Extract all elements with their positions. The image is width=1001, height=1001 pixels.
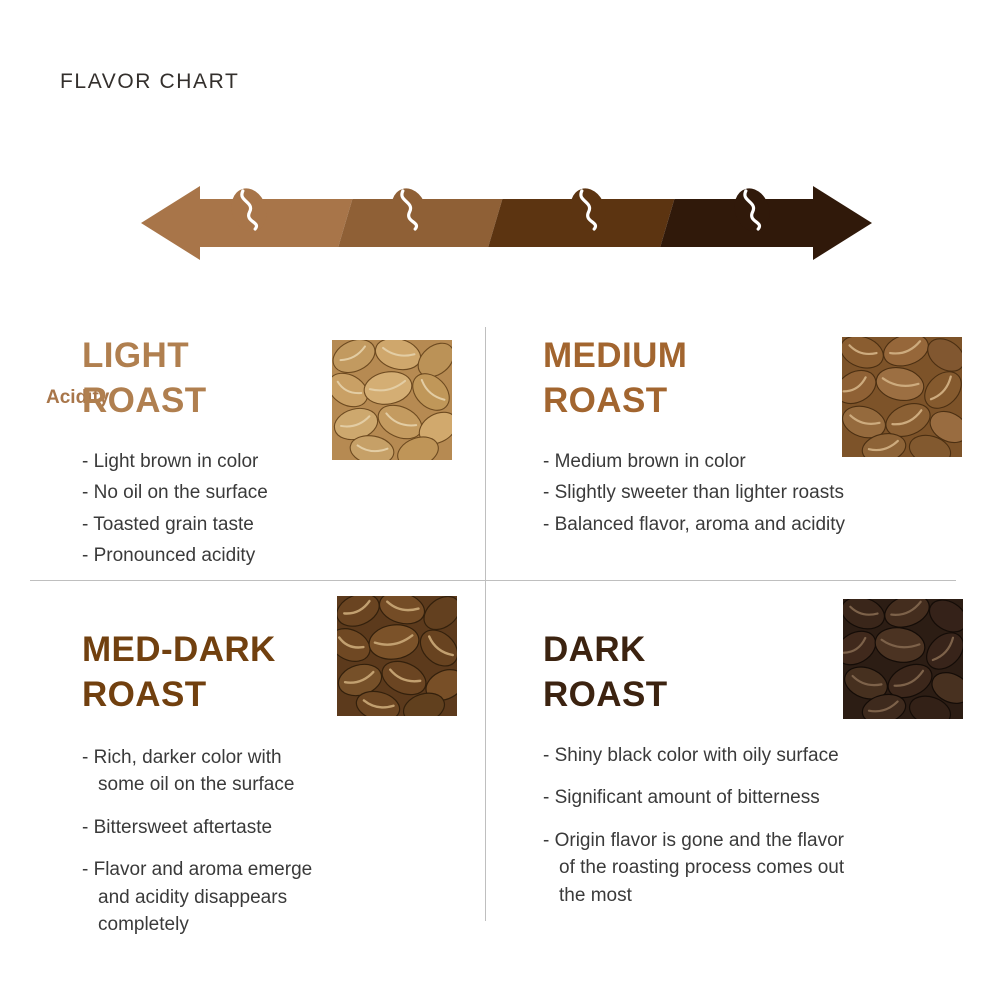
list-item: - Slightly sweeter than lighter roasts	[543, 479, 943, 507]
bullet-text: No oil on the surface	[94, 482, 268, 503]
light-roast-title: LIGHT ROAST	[82, 334, 472, 424]
list-item: - Toasted grain taste	[82, 511, 472, 539]
list-item: - Shiny black color with oily surface	[543, 742, 943, 770]
list-item: - Flavor and aroma emerge and acidity di…	[82, 856, 472, 939]
horizontal-divider	[30, 580, 956, 581]
dark-roast-title-line1: DARK	[543, 628, 943, 673]
bullet-marker: -	[82, 545, 88, 566]
list-item: - Significant amount of bitterness	[543, 784, 943, 812]
light-roast-title-line2: ROAST	[82, 379, 472, 424]
list-item: - Light brown in color	[82, 448, 472, 476]
med-dark-roast-title-line1: MED-DARK	[82, 628, 472, 673]
list-item: - Rich, darker color with some oil on th…	[82, 744, 472, 799]
medium-roast-title-line2: ROAST	[543, 379, 943, 424]
bullet-text: Toasted grain taste	[93, 514, 254, 535]
bullet-text: Light brown in color	[94, 451, 259, 472]
list-item: - No oil on the surface	[82, 479, 472, 507]
bullet-marker: -	[82, 514, 88, 535]
roast-scale: Acidity Bitterness LIGHT MEDIUM MED-DARK…	[0, 180, 1001, 275]
bullet-text: Balanced flavor, aroma and acidity	[555, 514, 845, 535]
roast-scale-arrow	[0, 180, 1001, 275]
bullet-text: Medium brown in color	[555, 451, 746, 472]
list-item: - Pronounced acidity	[82, 542, 472, 570]
bullet-marker: -	[82, 747, 88, 768]
light-roast-title-line1: LIGHT	[82, 334, 472, 379]
dark-roast-title: DARK ROAST	[543, 628, 943, 718]
list-item: - Bittersweet aftertaste	[82, 814, 472, 842]
bullet-marker: -	[82, 451, 88, 472]
vertical-divider	[485, 327, 486, 921]
bullet-marker: -	[543, 514, 549, 535]
med-dark-roast-bullet-list: - Rich, darker color with some oil on th…	[82, 744, 472, 939]
bullet-text: Bittersweet aftertaste	[94, 817, 272, 838]
bullet-marker: -	[543, 482, 549, 503]
bullet-marker: -	[82, 482, 88, 503]
bullet-marker: -	[82, 859, 88, 880]
bullet-marker: -	[543, 745, 549, 766]
page-title: FLAVOR CHART	[60, 70, 239, 94]
medium-roast-title-line1: MEDIUM	[543, 334, 943, 379]
list-item: - Origin flavor is gone and the flavor o…	[543, 827, 943, 910]
bullet-text: Rich, darker color with some oil on the …	[94, 747, 295, 796]
bullet-text: Significant amount of bitterness	[555, 787, 820, 808]
bullet-marker: -	[543, 787, 549, 808]
medium-roast-title: MEDIUM ROAST	[543, 334, 943, 424]
dark-roast-title-line2: ROAST	[543, 673, 943, 718]
med-dark-roast-title: MED-DARK ROAST	[82, 628, 472, 718]
quadrant-light-roast: LIGHT ROAST - Light brown in color - No …	[82, 334, 472, 574]
list-item: - Medium brown in color	[543, 448, 943, 476]
medium-roast-bullet-list: - Medium brown in color - Slightly sweet…	[543, 448, 943, 539]
bullet-text: Origin flavor is gone and the flavor of …	[555, 830, 845, 906]
quadrant-dark-roast: DARK ROAST - Shiny black color with oily…	[543, 628, 943, 924]
list-item: - Balanced flavor, aroma and acidity	[543, 511, 943, 539]
dark-roast-bullet-list: - Shiny black color with oily surface - …	[543, 742, 943, 910]
light-roast-bullet-list: - Light brown in color - No oil on the s…	[82, 448, 472, 570]
bullet-marker: -	[543, 830, 549, 851]
bullet-text: Flavor and aroma emerge and acidity disa…	[94, 859, 313, 935]
bullet-marker: -	[543, 451, 549, 472]
bullet-marker: -	[82, 817, 88, 838]
bullet-text: Pronounced acidity	[94, 545, 256, 566]
scale-band-dark	[652, 180, 880, 275]
quadrant-med-dark-roast: MED-DARK ROAST - Rich, darker color with…	[82, 628, 472, 954]
med-dark-roast-title-line2: ROAST	[82, 673, 472, 718]
bullet-text: Slightly sweeter than lighter roasts	[555, 482, 844, 503]
bullet-text: Shiny black color with oily surface	[555, 745, 839, 766]
